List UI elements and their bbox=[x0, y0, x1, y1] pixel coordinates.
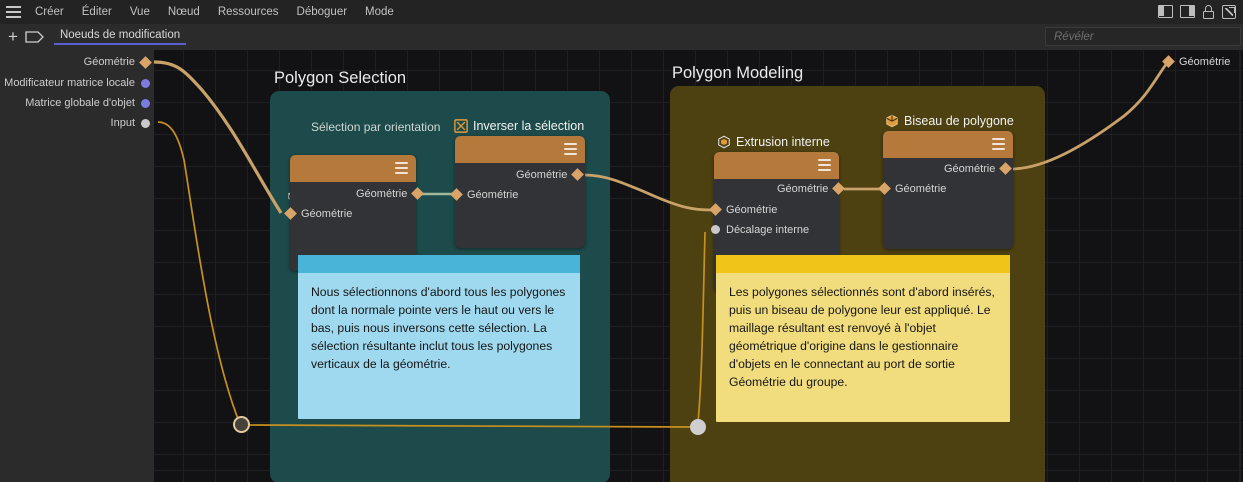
port-diamond-icon[interactable] bbox=[139, 56, 152, 69]
port-label: Géométrie bbox=[944, 163, 995, 175]
port-circle-icon[interactable] bbox=[711, 225, 720, 234]
port-diamond-icon[interactable] bbox=[999, 162, 1012, 175]
menu-bar: Créer Éditer Vue Nœud Ressources Débogue… bbox=[0, 0, 1243, 24]
node-subtitle-selection-par-orientation: Sélection par orientation bbox=[311, 120, 440, 134]
menu-item-vue[interactable]: Vue bbox=[121, 0, 159, 24]
reveal-placeholder: Révéler bbox=[1054, 31, 1094, 43]
node-select-facing-output-geometrie[interactable]: Géométrie bbox=[356, 187, 422, 200]
node-extrusion-output-geometrie[interactable]: Géométrie bbox=[777, 182, 843, 195]
node-title-inverser-la-selection: Inverser la sélection bbox=[454, 119, 584, 133]
node-title-biseau-de-polygone: Biseau de polygone bbox=[885, 114, 1014, 128]
port-label: Modificateur matrice locale bbox=[4, 77, 135, 89]
reroute-node-2[interactable] bbox=[690, 419, 706, 435]
node-biseau-input-geometrie[interactable]: Géométrie bbox=[880, 182, 946, 195]
input-port-input[interactable]: Input bbox=[111, 116, 154, 130]
port-label: Géométrie bbox=[726, 204, 777, 216]
sticky-note-polygon-selection[interactable]: Nous sélectionnons d'abord tous les poly… bbox=[298, 255, 580, 419]
node-menu-icon[interactable] bbox=[992, 138, 1005, 150]
expand-icon[interactable] bbox=[1222, 5, 1237, 19]
node-title-label: Inverser la sélection bbox=[473, 119, 584, 133]
node-inverser-input-geometrie[interactable]: Géométrie bbox=[452, 188, 518, 201]
node-title-label: Biseau de polygone bbox=[904, 114, 1014, 128]
node-header[interactable] bbox=[455, 136, 585, 163]
port-diamond-icon[interactable] bbox=[878, 182, 891, 195]
port-label: Géométrie bbox=[1179, 56, 1230, 68]
node-biseau-output-geometrie[interactable]: Géométrie bbox=[944, 162, 1010, 175]
tab-noeuds-de-modification[interactable]: Noeuds de modification bbox=[54, 29, 186, 45]
panel-left-icon[interactable] bbox=[1158, 5, 1173, 19]
tab-label: Noeuds de modification bbox=[60, 29, 180, 41]
menu-item-ressources[interactable]: Ressources bbox=[209, 0, 288, 24]
tab-bar: + Noeuds de modification Révéler bbox=[0, 24, 1243, 50]
tag-icon[interactable] bbox=[25, 31, 44, 43]
node-menu-icon[interactable] bbox=[564, 143, 577, 155]
sticky-note-header[interactable] bbox=[716, 255, 1010, 273]
window-controls bbox=[1158, 0, 1237, 24]
node-menu-icon[interactable] bbox=[818, 159, 831, 171]
port-label: Géométrie bbox=[301, 208, 352, 220]
group-title-polygon-modeling: Polygon Modeling bbox=[672, 64, 803, 83]
port-circle-icon[interactable] bbox=[141, 99, 150, 108]
sticky-note-polygon-modeling[interactable]: Les polygones sélectionnés sont d'abord … bbox=[716, 255, 1010, 422]
node-title-label: Extrusion interne bbox=[736, 135, 830, 149]
inner-extrude-icon bbox=[717, 135, 731, 149]
port-label: Géométrie bbox=[84, 56, 135, 68]
node-header[interactable] bbox=[290, 155, 416, 182]
menu-item-noeud[interactable]: Nœud bbox=[159, 0, 209, 24]
port-label: Input bbox=[111, 117, 135, 129]
port-diamond-icon[interactable] bbox=[1162, 55, 1175, 68]
group-output-port-geometrie[interactable]: Géométrie bbox=[1164, 55, 1230, 68]
panel-right-icon[interactable] bbox=[1180, 5, 1195, 19]
node-editor-window: Créer Éditer Vue Nœud Ressources Débogue… bbox=[0, 0, 1243, 482]
port-diamond-icon[interactable] bbox=[411, 187, 424, 200]
node-title-extrusion-interne: Extrusion interne bbox=[717, 135, 830, 149]
menu-item-creer[interactable]: Créer bbox=[26, 0, 73, 24]
port-diamond-icon[interactable] bbox=[450, 188, 463, 201]
port-label: Décalage interne bbox=[726, 224, 809, 236]
reveal-input[interactable]: Révéler bbox=[1045, 27, 1241, 46]
port-label: Géométrie bbox=[467, 189, 518, 201]
menu-item-deboguer[interactable]: Déboguer bbox=[288, 0, 357, 24]
node-select-facing-input-geometrie[interactable]: Géométrie bbox=[286, 207, 352, 220]
group-input-port-panel: Géométrie Modificateur matrice locale Ma… bbox=[0, 50, 154, 482]
sticky-note-text: Nous sélectionnons d'abord tous les poly… bbox=[298, 273, 580, 381]
node-menu-icon[interactable] bbox=[395, 162, 408, 174]
node-inverser-output-geometrie[interactable]: Géométrie bbox=[516, 168, 582, 181]
lock-icon[interactable] bbox=[1202, 5, 1215, 19]
port-diamond-icon[interactable] bbox=[709, 203, 722, 216]
port-diamond-icon[interactable] bbox=[832, 182, 845, 195]
invert-selection-icon bbox=[454, 119, 468, 133]
reroute-node-1[interactable] bbox=[233, 416, 250, 433]
hamburger-icon[interactable] bbox=[0, 0, 26, 24]
input-port-geometrie[interactable]: Géométrie bbox=[84, 55, 154, 69]
port-diamond-icon[interactable] bbox=[284, 207, 297, 220]
add-tab-button[interactable]: + bbox=[0, 28, 25, 47]
port-label: Matrice globale d'objet bbox=[25, 97, 135, 109]
input-port-modificateur-matrice-locale[interactable]: Modificateur matrice locale bbox=[4, 76, 154, 90]
sticky-note-header[interactable] bbox=[298, 255, 580, 273]
menu-item-editer[interactable]: Éditer bbox=[73, 0, 121, 24]
port-label: Géométrie bbox=[356, 188, 407, 200]
port-circle-icon[interactable] bbox=[141, 79, 150, 88]
sticky-note-text: Les polygones sélectionnés sont d'abord … bbox=[716, 273, 1010, 399]
node-extrusion-input-geometrie[interactable]: Géométrie bbox=[711, 203, 777, 216]
port-diamond-icon[interactable] bbox=[571, 168, 584, 181]
node-extrusion-input-decalage-interne[interactable]: Décalage interne bbox=[711, 223, 809, 236]
node-header[interactable] bbox=[883, 131, 1013, 158]
port-label: Géométrie bbox=[895, 183, 946, 195]
polygon-bevel-icon bbox=[885, 114, 899, 128]
group-title-polygon-selection: Polygon Selection bbox=[274, 69, 406, 88]
node-header[interactable] bbox=[714, 152, 839, 179]
port-label: Géométrie bbox=[777, 183, 828, 195]
port-circle-icon[interactable] bbox=[141, 119, 150, 128]
menu-item-mode[interactable]: Mode bbox=[356, 0, 403, 24]
port-label: Géométrie bbox=[516, 169, 567, 181]
node-canvas[interactable]: Polygon Selection Polygon Modeling Sélec… bbox=[154, 50, 1243, 482]
input-port-matrice-globale-objet[interactable]: Matrice globale d'objet bbox=[25, 96, 154, 110]
